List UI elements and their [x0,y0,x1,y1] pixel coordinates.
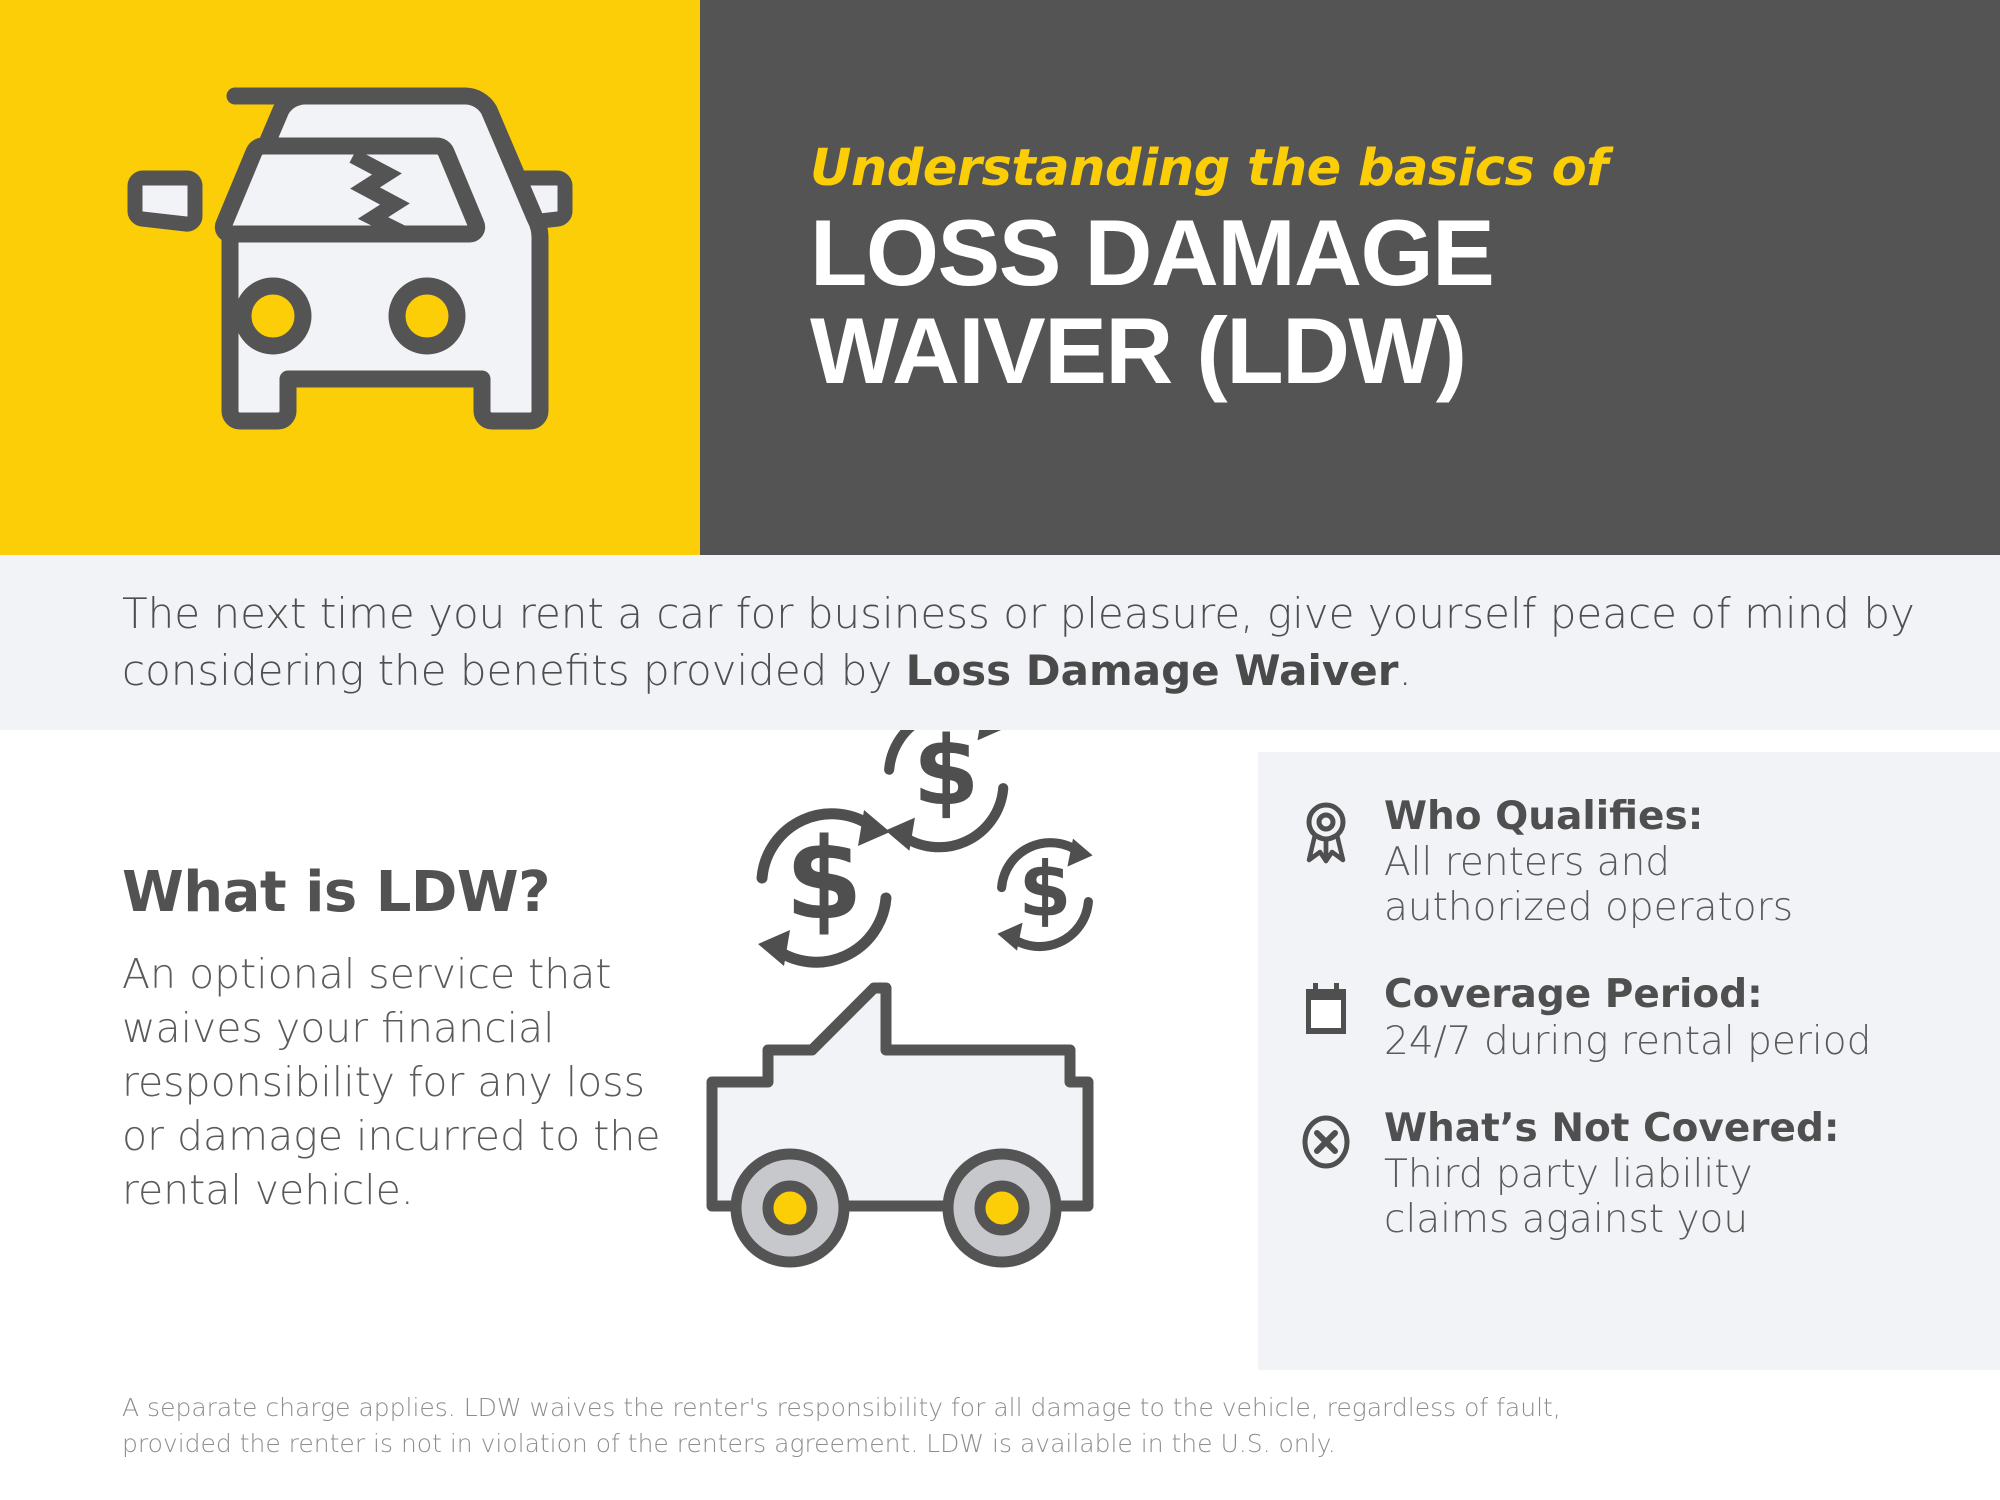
main-content: What is LDW? An optional service that wa… [0,730,2000,1370]
svg-text:$: $ [1019,846,1072,934]
panel-item-heading: Who Qualifies: [1384,794,1970,840]
illustration-group: $ $ $ [690,730,1250,1350]
intro-emphasis: Loss Damage Waiver [906,646,1399,695]
intro-part-2: . [1398,646,1411,695]
truck-wheel-front [736,1154,844,1262]
page-title: What is LDW? [122,860,682,925]
infographic-page: Understanding the basics of LOSS DAMAGE … [0,0,2000,1500]
calendar-icon [1300,972,1358,1063]
panel-item-heading: Coverage Period: [1384,972,1970,1018]
panel-item-body-line-2: authorized operators [1384,885,1970,930]
dollar-refresh-cycle-icon: $ [997,839,1092,951]
panel-item-body-line-1: 24/7 during rental period [1384,1019,1970,1064]
panel-item-text: Coverage Period: 24/7 during rental peri… [1384,972,1970,1063]
header-banner: Understanding the basics of LOSS DAMAGE … [0,0,2000,555]
panel-item-whats-not-covered: What’s Not Covered: Third party liabilit… [1300,1106,1970,1242]
money-and-truck-illustration: $ $ $ [690,730,1250,1350]
svg-text:$: $ [785,815,863,945]
header-title-line-1: LOSS DAMAGE [810,204,1970,302]
section-body-text: An optional service that waives your fin… [122,947,682,1218]
header-title-block: Understanding the basics of LOSS DAMAGE … [700,0,2000,555]
dollar-refresh-cycle-icon: $ [885,730,1006,851]
x-circle-icon [1300,1106,1358,1242]
disclaimer-line-2: provided the renter is not in violation … [122,1426,1842,1462]
panel-item-coverage-period: Coverage Period: 24/7 during rental peri… [1300,972,1970,1063]
panel-item-text: What’s Not Covered: Third party liabilit… [1384,1106,1970,1242]
what-is-ldw-block: What is LDW? An optional service that wa… [122,860,682,1218]
intro-band: The next time you rent a car for busines… [0,555,2000,730]
award-ribbon-icon [1300,794,1358,930]
dollar-refresh-cycle-icon: $ [758,810,890,966]
cracked-windshield-car-icon [115,78,585,478]
details-panel: Who Qualifies: All renters and authorize… [1258,752,2000,1370]
panel-item-who-qualifies: Who Qualifies: All renters and authorize… [1300,794,1970,930]
disclaimer: A separate charge applies. LDW waives th… [122,1390,1842,1461]
header-icon-panel [0,0,700,555]
header-title-line-2: WAIVER (LDW) [810,302,1970,400]
pickup-truck-icon [712,988,1088,1262]
svg-text:$: $ [913,730,980,827]
panel-item-body-line-1: Third party liability [1384,1152,1970,1197]
truck-wheel-rear [948,1154,1056,1262]
panel-item-text: Who Qualifies: All renters and authorize… [1384,794,1970,930]
panel-item-heading: What’s Not Covered: [1384,1106,1970,1152]
header-eyebrow: Understanding the basics of [810,139,1970,198]
panel-item-body-line-1: All renters and [1384,840,1970,885]
footer: A separate charge applies. LDW waives th… [0,1378,2000,1500]
panel-item-body-line-2: claims against you [1384,1197,1970,1242]
disclaimer-line-1: A separate charge applies. LDW waives th… [122,1390,1842,1426]
intro-paragraph: The next time you rent a car for busines… [0,586,2000,699]
